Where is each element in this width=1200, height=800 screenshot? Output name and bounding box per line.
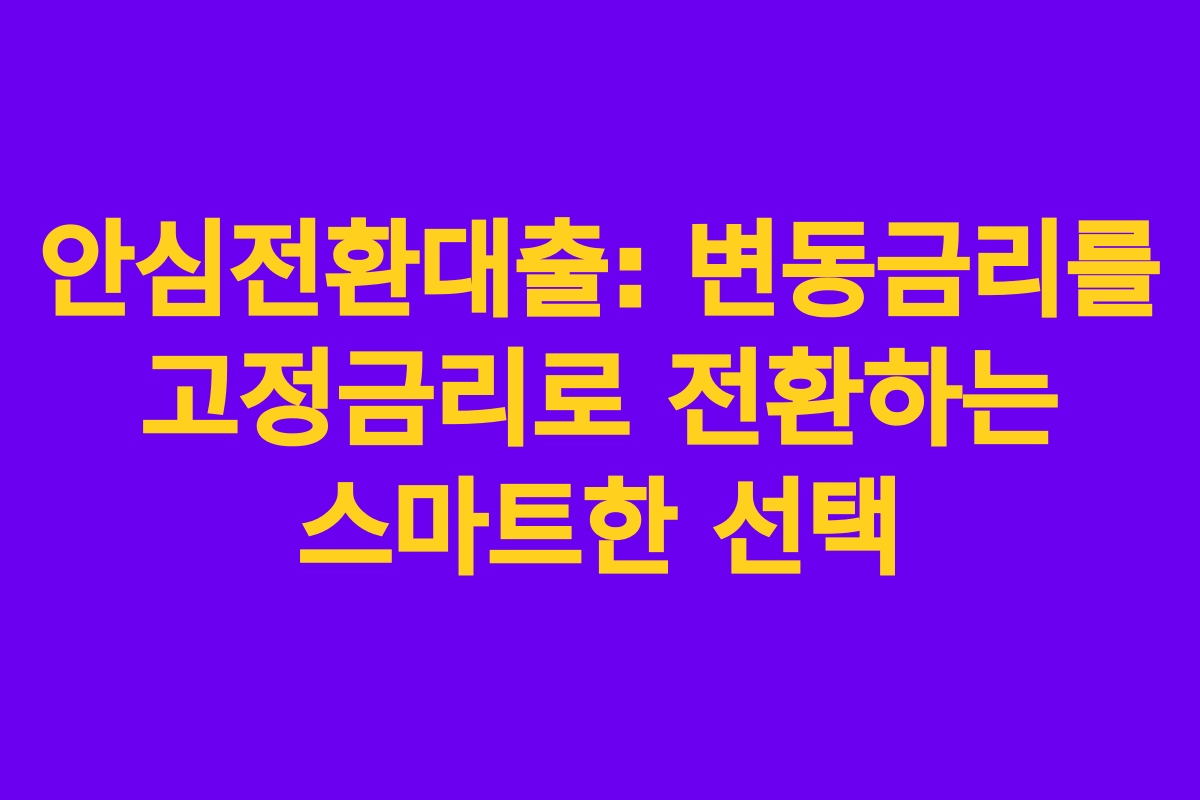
headline-line-1: 안심전환대출: 변동금리를 <box>0 207 1200 336</box>
headline-line-3: 스마트한 선택 <box>0 465 1200 594</box>
promo-banner: 안심전환대출: 변동금리를 고정금리로 전환하는 스마트한 선택 <box>0 0 1200 800</box>
page-title: 안심전환대출: 변동금리를 고정금리로 전환하는 스마트한 선택 <box>0 207 1200 594</box>
headline-line-2: 고정금리로 전환하는 <box>0 336 1200 465</box>
